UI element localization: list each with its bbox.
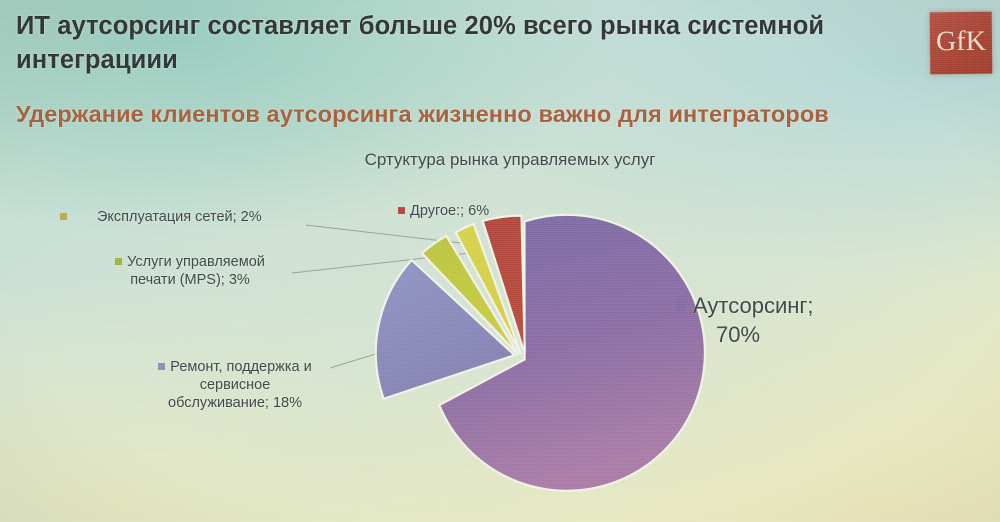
page-subtitle: Удержание клиентов аутсорсинга жизненно … — [16, 100, 916, 129]
data-label-other-text: Другое:; 6% — [410, 203, 489, 219]
bullet-marker-outsourcing — [676, 301, 686, 311]
data-label-outsourcing: Аутсорсинг; 70% — [676, 292, 906, 349]
bullet-marker-repair — [158, 363, 165, 370]
page-title: ИТ аутсорсинг составляет больше 20% всег… — [16, 10, 846, 78]
slide-canvas: ИТ аутсорсинг составляет больше 20% всег… — [0, 0, 1000, 522]
data-label-outsourcing-line2: 70% — [716, 322, 760, 347]
data-label-network-text: Эксплуатация сетей; 2% — [97, 209, 262, 225]
bullet-marker-other — [398, 207, 405, 214]
data-label-repair: Ремонт, поддержка и сервисное обслуживан… — [110, 358, 360, 412]
data-label-repair-line1: Ремонт, поддержка и — [170, 359, 311, 375]
data-label-outsourcing-line1: Аутсорсинг; — [693, 293, 814, 318]
data-label-mps-line1: Услуги управляемой — [127, 254, 265, 270]
data-label-repair-line3: обслуживание; 18% — [168, 395, 302, 411]
data-label-mps-line2: печати (MPS); 3% — [130, 272, 250, 288]
bullet-marker-network — [60, 213, 67, 220]
data-label-mps: Услуги управляемой печати (MPS); 3% — [60, 253, 320, 289]
gfk-logo: GfK — [930, 12, 993, 75]
bullet-marker-mps — [115, 258, 122, 265]
leader-line-network — [306, 225, 478, 245]
pie-chart: Сртуктура рынка управляемых услуг — [0, 140, 1000, 522]
gfk-logo-text: GfK — [936, 28, 986, 57]
data-label-repair-line2: сервисное — [200, 377, 271, 393]
data-label-network: Эксплуатация сетей; 2% — [60, 208, 370, 226]
data-label-other: Другое:; 6% — [398, 202, 598, 220]
